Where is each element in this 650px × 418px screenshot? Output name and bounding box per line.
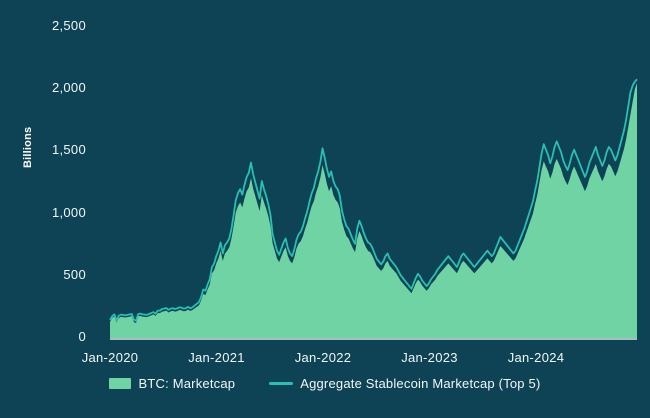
y-axis-tick-500: 500 xyxy=(20,267,86,282)
x-axis-tick-jan-2024: Jan-2024 xyxy=(481,350,591,365)
legend-item-btc-marketcap[interactable]: BTC: Marketcap xyxy=(109,376,235,391)
y-axis-tick-2000: 2,000 xyxy=(20,80,86,95)
y-axis-tick-1500: 1,500 xyxy=(20,142,86,157)
legend-label: Aggregate Stablecoin Marketcap (Top 5) xyxy=(300,376,540,391)
series-btc-marketcap-area xyxy=(110,83,637,338)
y-axis-tick-1000: 1,000 xyxy=(20,205,86,220)
x-axis-tick-jan-2022: Jan-2022 xyxy=(268,350,378,365)
legend-line-swatch-icon xyxy=(269,382,293,385)
legend-area-swatch-icon xyxy=(109,378,131,389)
chart-legend: BTC: MarketcapAggregate Stablecoin Marke… xyxy=(0,376,650,391)
x-axis-tick-jan-2020: Jan-2020 xyxy=(55,350,165,365)
x-axis-tick-jan-2021: Jan-2021 xyxy=(162,350,272,365)
y-axis-tick-2500: 2,500 xyxy=(20,18,86,33)
chart-container: Billions 05001,0001,5002,0002,500 Jan-20… xyxy=(0,0,650,418)
y-axis-tick-0: 0 xyxy=(20,329,86,344)
legend-item-aggregate-stablecoin-marketcap[interactable]: Aggregate Stablecoin Marketcap (Top 5) xyxy=(269,376,540,391)
legend-label: BTC: Marketcap xyxy=(138,376,235,391)
x-axis-tick-jan-2023: Jan-2023 xyxy=(375,350,485,365)
